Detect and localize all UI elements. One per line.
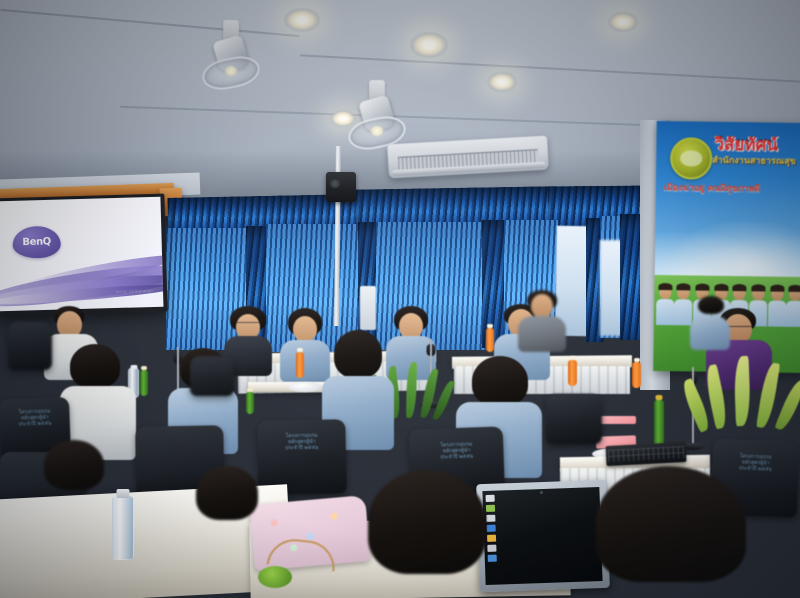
chair-print-text: โครงการอบรมหลักสูตรผู้นำประจำปี ๒๕๕๖ <box>265 433 339 452</box>
official-seal-icon <box>670 137 713 180</box>
leaf <box>774 377 800 432</box>
person-foreground <box>596 466 746 598</box>
keyboard[interactable] <box>606 442 687 466</box>
desktop-icon[interactable] <box>487 535 496 542</box>
banner-slogan: เมืองน่าอยู่ คนมีสุขภาพดี <box>664 183 800 196</box>
chair-print-text: โครงการอบรมหลักสูตรผู้นำประจำปี ๒๕๕๖ <box>5 408 64 428</box>
person-foreground <box>196 466 258 528</box>
projection-screen-image: BenQ Corporation <box>0 197 163 312</box>
webcam-icon <box>539 491 542 494</box>
desktop-icon[interactable] <box>488 555 497 562</box>
water-bottle <box>112 496 134 560</box>
downlight <box>487 72 517 92</box>
desktop-icon[interactable] <box>486 515 495 522</box>
orange-bottle <box>486 328 494 352</box>
green-bottle <box>140 370 148 396</box>
screen-corner-tag: BenQ Corporation <box>116 288 153 294</box>
hair <box>334 330 382 378</box>
projection-screen: BenQ Corporation <box>0 194 168 317</box>
desktop-icon[interactable] <box>486 505 495 512</box>
banner-portrait <box>656 283 674 325</box>
ceiling-fan <box>198 20 264 98</box>
chair <box>8 322 52 370</box>
chair-print-text: โครงการอบรมหลักสูตรผู้นำประจำปี ๒๕๕๖ <box>417 441 497 462</box>
face <box>293 316 317 342</box>
person-attendee <box>518 290 566 346</box>
ceiling-fan <box>348 80 406 148</box>
chair[interactable] <box>190 356 234 396</box>
fan-hub <box>371 126 383 136</box>
torso <box>690 316 730 350</box>
hair <box>44 440 104 490</box>
desktop-icons[interactable] <box>486 495 499 562</box>
chair[interactable] <box>546 394 602 444</box>
napkin <box>600 416 636 424</box>
leaf <box>734 356 751 426</box>
laptop-screen[interactable] <box>482 487 602 585</box>
downlight <box>410 32 448 58</box>
green-bottle <box>246 392 254 414</box>
person-foreground <box>44 440 104 498</box>
photograph-scene: วิสัยทัศน์ สำนักงานสาธารณสุข เมืองน่าอยู… <box>0 0 800 598</box>
person-attendee <box>690 296 730 346</box>
face <box>531 294 553 318</box>
desktop-icon[interactable] <box>486 495 495 502</box>
chair-printed[interactable]: โครงการอบรมหลักสูตรผู้นำประจำปี ๒๕๕๖ <box>257 419 346 495</box>
desktop-icon[interactable] <box>487 525 496 532</box>
orange-bottle <box>632 362 641 388</box>
torso <box>518 316 566 352</box>
downlight <box>284 8 320 32</box>
orange-bottle <box>568 360 577 386</box>
hair <box>698 296 724 314</box>
hair <box>70 344 120 388</box>
hair <box>596 466 746 582</box>
potted-plant <box>698 356 798 430</box>
person-foreground <box>368 470 486 598</box>
hair <box>472 356 528 406</box>
green-item <box>258 566 292 588</box>
banner-title: วิสัยทัศน์ <box>714 136 800 155</box>
fan-hub <box>225 66 237 76</box>
window-fitting <box>360 286 376 330</box>
hair <box>196 466 258 520</box>
downlight <box>608 12 638 32</box>
ceiling-speaker <box>326 172 356 202</box>
desktop-icon[interactable] <box>487 545 496 552</box>
orange-bottle <box>296 352 304 378</box>
banner-portrait <box>786 285 800 327</box>
leaf <box>406 362 417 418</box>
eyeglasses-icon <box>236 322 260 328</box>
banner-subtitle: สำนักงานสาธารณสุข <box>712 156 800 168</box>
benq-logo-icon <box>12 226 61 259</box>
hair <box>368 470 486 574</box>
laptop[interactable] <box>476 480 610 592</box>
plate <box>288 382 322 392</box>
